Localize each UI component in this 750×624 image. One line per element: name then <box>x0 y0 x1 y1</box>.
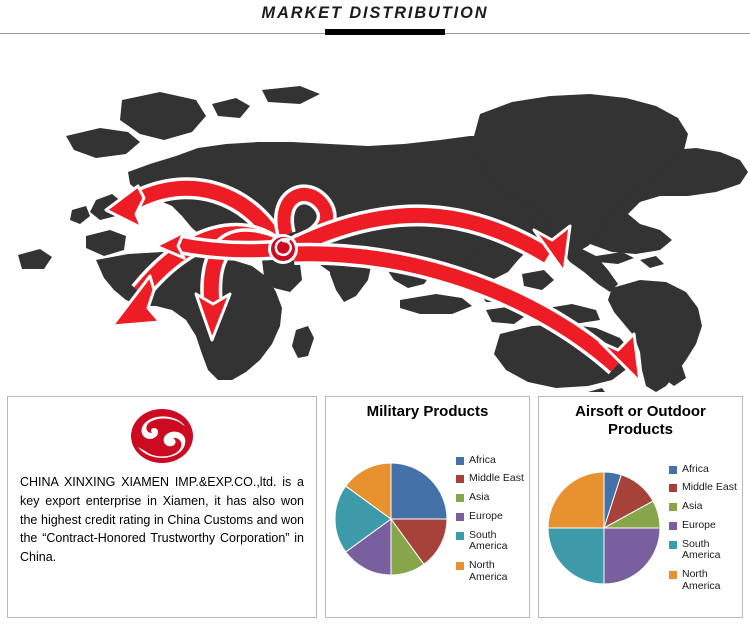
legend-item: Africa <box>669 464 740 476</box>
legend-swatch-north-america <box>669 571 677 579</box>
legend-label: Europe <box>682 520 716 532</box>
legend-item: Asia <box>669 501 740 513</box>
legend-item: South America <box>669 539 740 563</box>
legend-label: North America <box>682 569 721 593</box>
airsoft-chart-title: Airsoft or Outdoor Products <box>539 397 742 438</box>
legend-label: Middle East <box>469 473 524 485</box>
legend-label: South America <box>682 539 721 563</box>
military-chart-legend: AfricaMiddle EastAsiaEuropeSouth America… <box>450 455 529 584</box>
legend-swatch-europe <box>456 513 464 521</box>
military-chart-body: AfricaMiddle EastAsiaEuropeSouth America… <box>326 423 529 615</box>
airsoft-pie-chart <box>545 469 663 587</box>
legend-item: Europe <box>669 520 740 532</box>
legend-label: North America <box>469 560 508 584</box>
airsoft-chart-legend: AfricaMiddle EastAsiaEuropeSouth America… <box>663 464 742 593</box>
legend-swatch-africa <box>456 457 464 465</box>
legend-swatch-north-america <box>456 562 464 570</box>
legend-label: South America <box>469 530 508 554</box>
legend-item: North America <box>456 560 527 584</box>
legend-label: Africa <box>682 464 709 476</box>
page-title: MARKET DISTRIBUTION <box>15 3 735 23</box>
airsoft-products-chart-panel: Airsoft or Outdoor Products AfricaMiddle… <box>538 396 743 618</box>
military-pie-container <box>326 460 450 578</box>
military-pie-chart <box>332 460 450 578</box>
military-products-chart-panel: Military Products AfricaMiddle EastAsiaE… <box>325 396 530 618</box>
map-landmasses <box>18 86 748 392</box>
legend-label: Middle East <box>682 482 737 494</box>
map-origin-spiral-icon <box>268 234 298 264</box>
legend-swatch-south-america <box>456 532 464 540</box>
bottom-panels: CHINA XINXING XIAMEN IMP.&EXP.CO.,ltd. i… <box>0 396 750 618</box>
legend-item: North America <box>669 569 740 593</box>
legend-swatch-asia <box>456 494 464 502</box>
company-logo-container <box>8 397 316 469</box>
legend-item: South America <box>456 530 527 554</box>
company-info-panel: CHINA XINXING XIAMEN IMP.&EXP.CO.,ltd. i… <box>7 396 317 618</box>
company-description: CHINA XINXING XIAMEN IMP.&EXP.CO.,ltd. i… <box>8 469 316 567</box>
legend-item: Middle East <box>456 473 527 485</box>
legend-item: Middle East <box>669 482 740 494</box>
military-slice-africa <box>391 463 447 519</box>
header-divider-accent <box>325 29 445 35</box>
airsoft-chart-body: AfricaMiddle EastAsiaEuropeSouth America… <box>539 441 742 615</box>
military-chart-title: Military Products <box>326 397 529 421</box>
airsoft-slice-south-america <box>548 528 604 584</box>
legend-item: Africa <box>456 455 527 467</box>
legend-label: Asia <box>469 492 489 504</box>
world-map-panel <box>0 44 750 392</box>
legend-swatch-middle-east <box>456 475 464 483</box>
airsoft-pie-container <box>539 469 663 587</box>
legend-label: Africa <box>469 455 496 467</box>
legend-label: Asia <box>682 501 702 513</box>
legend-swatch-europe <box>669 522 677 530</box>
legend-item: Europe <box>456 511 527 523</box>
legend-swatch-south-america <box>669 541 677 549</box>
legend-label: Europe <box>469 511 503 523</box>
legend-swatch-asia <box>669 503 677 511</box>
airsoft-slice-europe <box>604 528 660 584</box>
legend-swatch-africa <box>669 466 677 474</box>
legend-swatch-middle-east <box>669 484 677 492</box>
airsoft-slice-north-america <box>548 472 604 528</box>
legend-item: Asia <box>456 492 527 504</box>
world-map-graphic <box>0 44 750 392</box>
page-header: MARKET DISTRIBUTION <box>0 0 750 46</box>
xinxing-swirl-logo-icon <box>129 407 195 465</box>
